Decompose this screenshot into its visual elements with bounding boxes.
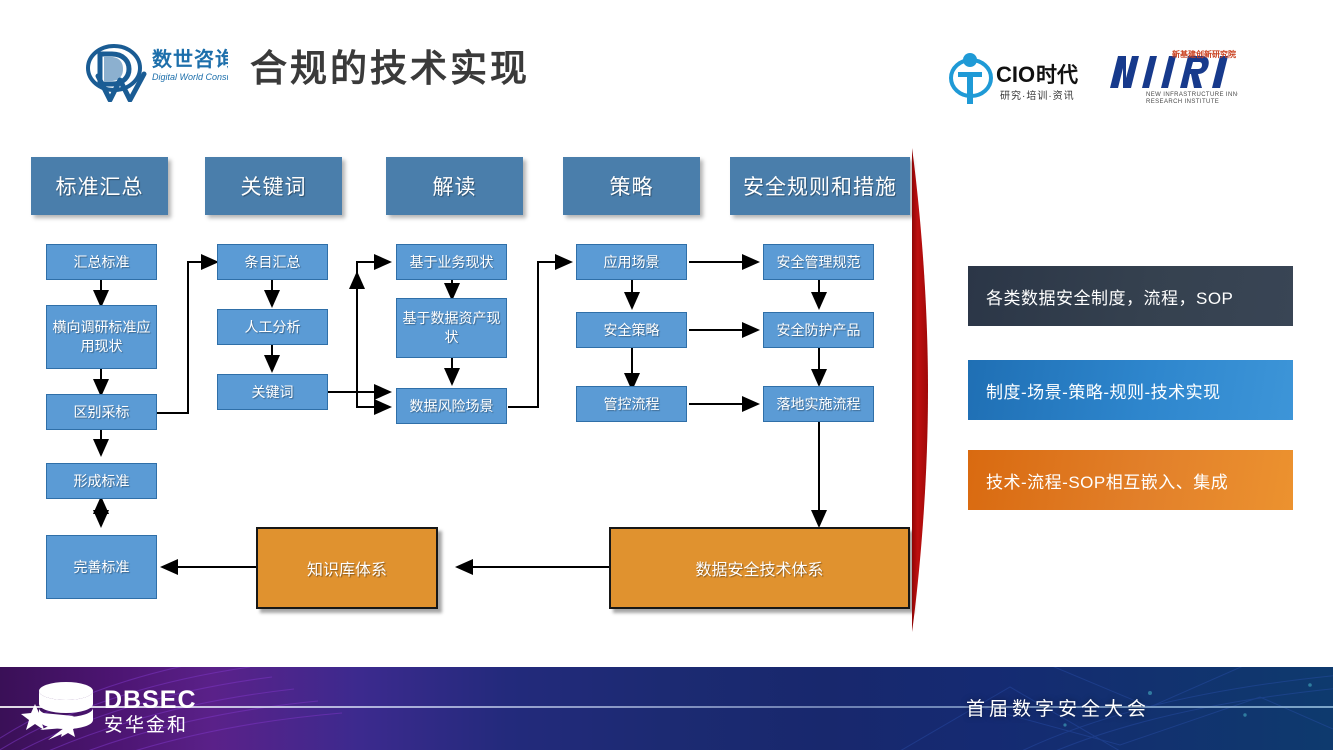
col-header-standards: 标准汇总: [31, 157, 168, 215]
callout-policies: 各类数据安全制度，流程，SOP: [968, 266, 1293, 326]
node-guanjianci-label: 关键词: [252, 383, 294, 402]
svg-text:研究·培训·资讯: 研究·培训·资讯: [1000, 89, 1075, 102]
col-header-strategy: 策略: [563, 157, 700, 215]
box-tech-system: 数据安全技术体系: [609, 527, 910, 609]
node-hengxiang-diaoyan-label: 横向调研标准应用现状: [47, 318, 156, 356]
slide-canvas: 数世咨询 Digital World Consulting 数世咨询 Digit…: [0, 0, 1333, 750]
red-arrow-shape: [895, 140, 945, 640]
node-qubie-caibiao: 区别采标: [46, 394, 157, 430]
col-header-standards-label: 标准汇总: [56, 171, 144, 201]
node-shuju-fengxian: 数据风险场景: [396, 388, 507, 424]
col-header-keywords: 关键词: [205, 157, 342, 215]
box-knowledge-system-label: 知识库体系: [307, 556, 387, 580]
col-header-rules: 安全规则和措施: [730, 157, 910, 215]
node-anquan-guanli-label: 安全管理规范: [777, 253, 861, 272]
node-luodi-shishi-label: 落地实施流程: [777, 395, 861, 414]
col-header-keywords-label: 关键词: [241, 171, 307, 201]
node-jiyu-shuju: 基于数据资产现状: [396, 298, 507, 358]
node-guankong-liucheng: 管控流程: [576, 386, 687, 422]
svg-text:时代: 时代: [1036, 64, 1078, 87]
node-anquan-guanli: 安全管理规范: [763, 244, 874, 280]
cio-logo: CIO 时代 研究·培训·资讯 CIO时代 研究·培训·资讯: [948, 48, 1093, 110]
callout-policies-label: 各类数据安全制度，流程，SOP: [986, 284, 1233, 309]
node-tiaomu-huizong-label: 条目汇总: [245, 253, 301, 272]
node-wanshan-biaozhun-label: 完善标准: [74, 558, 130, 577]
col-header-interpret-label: 解读: [433, 171, 477, 201]
dw-logo: 数世咨询 Digital World Consulting 数世咨询 Digit…: [78, 40, 228, 102]
node-anquan-celue: 安全策略: [576, 312, 687, 348]
node-luodi-shishi: 落地实施流程: [763, 386, 874, 422]
col-header-interpret: 解读: [386, 157, 523, 215]
node-xingcheng-biaozhun-label: 形成标准: [74, 472, 130, 491]
node-jiyu-shuju-label: 基于数据资产现状: [397, 309, 506, 347]
node-shuju-fengxian-label: 数据风险场景: [410, 397, 494, 416]
svg-text:Digital World Consulting: Digital World Consulting: [152, 72, 228, 82]
col-header-strategy-label: 策略: [610, 171, 654, 201]
svg-text:DBSEC: DBSEC: [104, 686, 197, 714]
node-guanjianci: 关键词: [217, 374, 328, 410]
svg-text:RESEARCH INSTITUTE: RESEARCH INSTITUTE: [1146, 99, 1219, 105]
node-anquan-fanghu-label: 安全防护产品: [777, 321, 861, 340]
node-jiyu-yewu: 基于业务现状: [396, 244, 507, 280]
node-anquan-fanghu: 安全防护产品: [763, 312, 874, 348]
page-title: 合规的技术实现: [250, 44, 530, 94]
node-yingyong-changjing-label: 应用场景: [604, 253, 660, 272]
flow-diagram: 标准汇总 关键词 解读 策略 安全规则和措施 汇总标准 横向调研标准应用现状 区…: [0, 130, 940, 640]
node-rengong-fenxi-label: 人工分析: [245, 318, 301, 337]
box-knowledge-system: 知识库体系: [256, 527, 438, 609]
node-jiyu-yewu-label: 基于业务现状: [410, 253, 494, 272]
node-guankong-liucheng-label: 管控流程: [604, 395, 660, 414]
niiri-logo: 新基建创新研究院 NEW INFRASTRUCTURE INNOVATION R…: [1106, 48, 1238, 106]
node-huizong-biaozhun-label: 汇总标准: [74, 253, 130, 272]
node-anquan-celue-label: 安全策略: [604, 321, 660, 340]
node-yingyong-changjing: 应用场景: [576, 244, 687, 280]
callout-chain: 制度-场景-策略-规则-技术实现: [968, 360, 1293, 420]
svg-text:数世咨询: 数世咨询: [152, 47, 228, 71]
svg-text:新基建创新研究院: 新基建创新研究院: [1172, 49, 1236, 59]
box-tech-system-label: 数据安全技术体系: [695, 556, 823, 580]
svg-text:NEW INFRASTRUCTURE INNOVATION: NEW INFRASTRUCTURE INNOVATION: [1146, 92, 1238, 98]
node-xingcheng-biaozhun: 形成标准: [46, 463, 157, 499]
node-hengxiang-diaoyan: 横向调研标准应用现状: [46, 305, 157, 369]
callout-chain-label: 制度-场景-策略-规则-技术实现: [986, 378, 1221, 403]
node-tiaomu-huizong: 条目汇总: [217, 244, 328, 280]
svg-text:CIO: CIO: [996, 62, 1035, 87]
conference-title: 首届数字安全大会: [966, 694, 1150, 721]
node-rengong-fenxi: 人工分析: [217, 309, 328, 345]
node-huizong-biaozhun: 汇总标准: [46, 244, 157, 280]
callout-embed-label: 技术-流程-SOP相互嵌入、集成: [986, 468, 1228, 493]
slide-header: 数世咨询 Digital World Consulting 数世咨询 Digit…: [0, 0, 1333, 130]
dbsec-logo: DBSEC 安华金和 DBSEC 安华金和: [18, 678, 228, 740]
callout-embed: 技术-流程-SOP相互嵌入、集成: [968, 450, 1293, 510]
node-qubie-caibiao-label: 区别采标: [74, 403, 130, 422]
node-wanshan-biaozhun: 完善标准: [46, 535, 157, 599]
col-header-rules-label: 安全规则和措施: [743, 171, 897, 201]
svg-text:安华金和: 安华金和: [104, 714, 188, 736]
